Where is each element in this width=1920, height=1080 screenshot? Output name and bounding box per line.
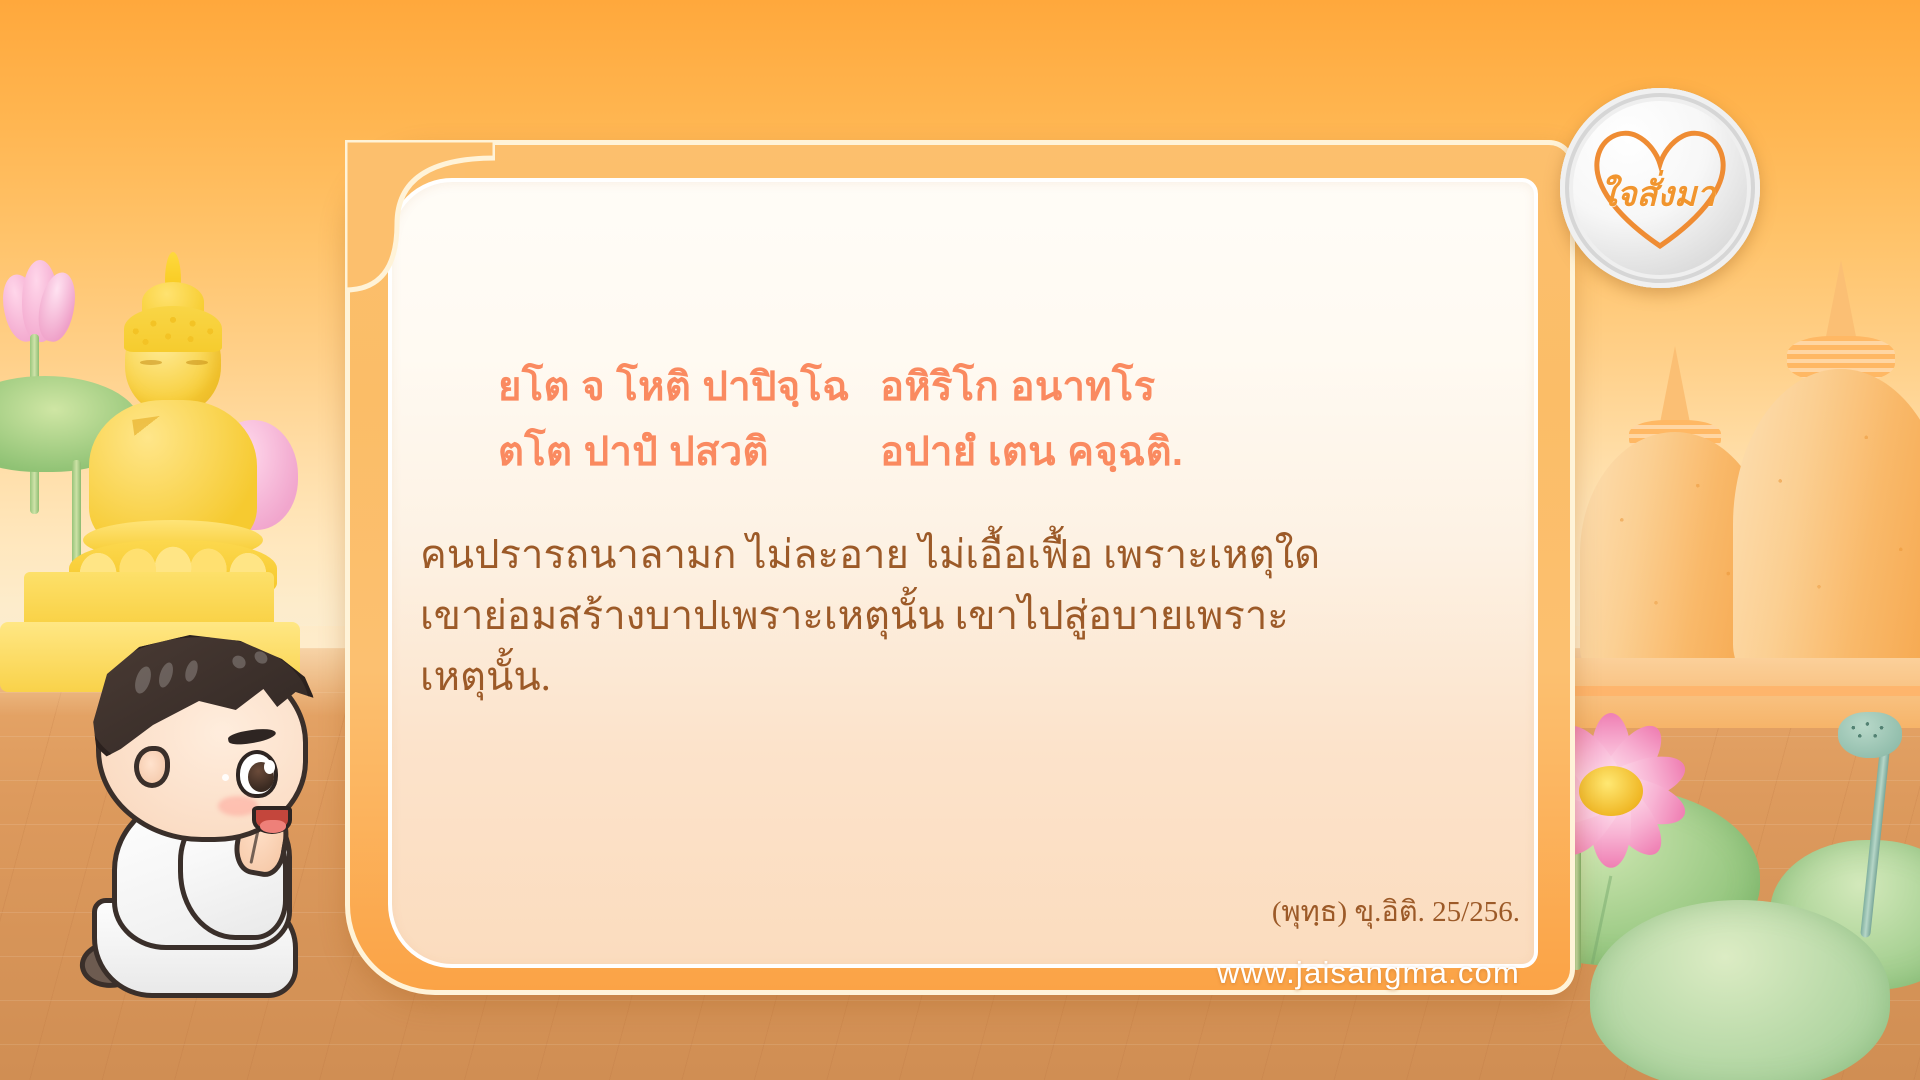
boy-ear: [134, 746, 170, 788]
lotus-flower-center: [1579, 766, 1643, 816]
pali-line1-left: ยโต จ โหติ ปาปิจฺโฉ: [498, 355, 880, 420]
jaisangma-logo-badge[interactable]: ใจสั่งมา: [1560, 88, 1760, 288]
boy-eye-glint: [264, 760, 275, 774]
pali-line1-right: อหิริโก อนาทโร: [880, 355, 1155, 420]
pali-line2-right: อปายํ เตน คจฺฉติ.: [880, 420, 1183, 485]
orange-stupa-large-icon: [1733, 260, 1920, 680]
boy-tongue: [260, 820, 286, 833]
pali-verse-block: ยโต จ โหติ ปาปิจฺโฉ อหิริโก อนาทโร ตโต ป…: [498, 355, 1398, 485]
buddha-eye-right: [186, 360, 208, 365]
pali-verse-line-1: ยโต จ โหติ ปาปิจฺโฉ อหิริโก อนาทโร: [498, 355, 1398, 420]
logo-wordmark: ใจสั่งมา: [1600, 166, 1715, 220]
golden-buddha-statue-icon: [78, 252, 268, 612]
lotus-seed-pod-icon: [1838, 712, 1902, 758]
stupa-dome: [1733, 369, 1920, 680]
website-url-label[interactable]: www.jaisangma.com: [0, 955, 1920, 991]
buddha-eye-left: [140, 360, 162, 365]
pink-lotus-bud-icon: [2, 256, 76, 344]
stupa-spire: [1659, 346, 1691, 428]
scripture-citation: (พุทฺธ) ขุ.อิติ. 25/256.: [0, 888, 1920, 934]
translation-line: เหตุนั้น.: [420, 647, 1520, 708]
pali-line2-left: ตโต ปาปํ ปสวติ: [498, 420, 880, 485]
translation-line: เขาย่อมสร้างบาปเพราะเหตุนั้น เขาไปสู่อบา…: [420, 586, 1520, 647]
thai-translation-block: คนปรารถนาลามก ไม่ละอาย ไม่เอื้อเฟื้อ เพร…: [420, 525, 1520, 707]
buddha-hair-curls: [124, 306, 222, 352]
translation-line: คนปรารถนาลามก ไม่ละอาย ไม่เอื้อเฟื้อ เพร…: [420, 525, 1520, 586]
boy-nose-highlight: [222, 774, 229, 781]
pali-verse-line-2: ตโต ปาปํ ปสวติ อปายํ เตน คจฺฉติ.: [498, 420, 1398, 485]
card-canvas: ยโต จ โหติ ปาปิจฺโฉ อหิริโก อนาทโร ตโต ป…: [0, 0, 1920, 1080]
right-scenery-stupas: [1560, 250, 1920, 720]
